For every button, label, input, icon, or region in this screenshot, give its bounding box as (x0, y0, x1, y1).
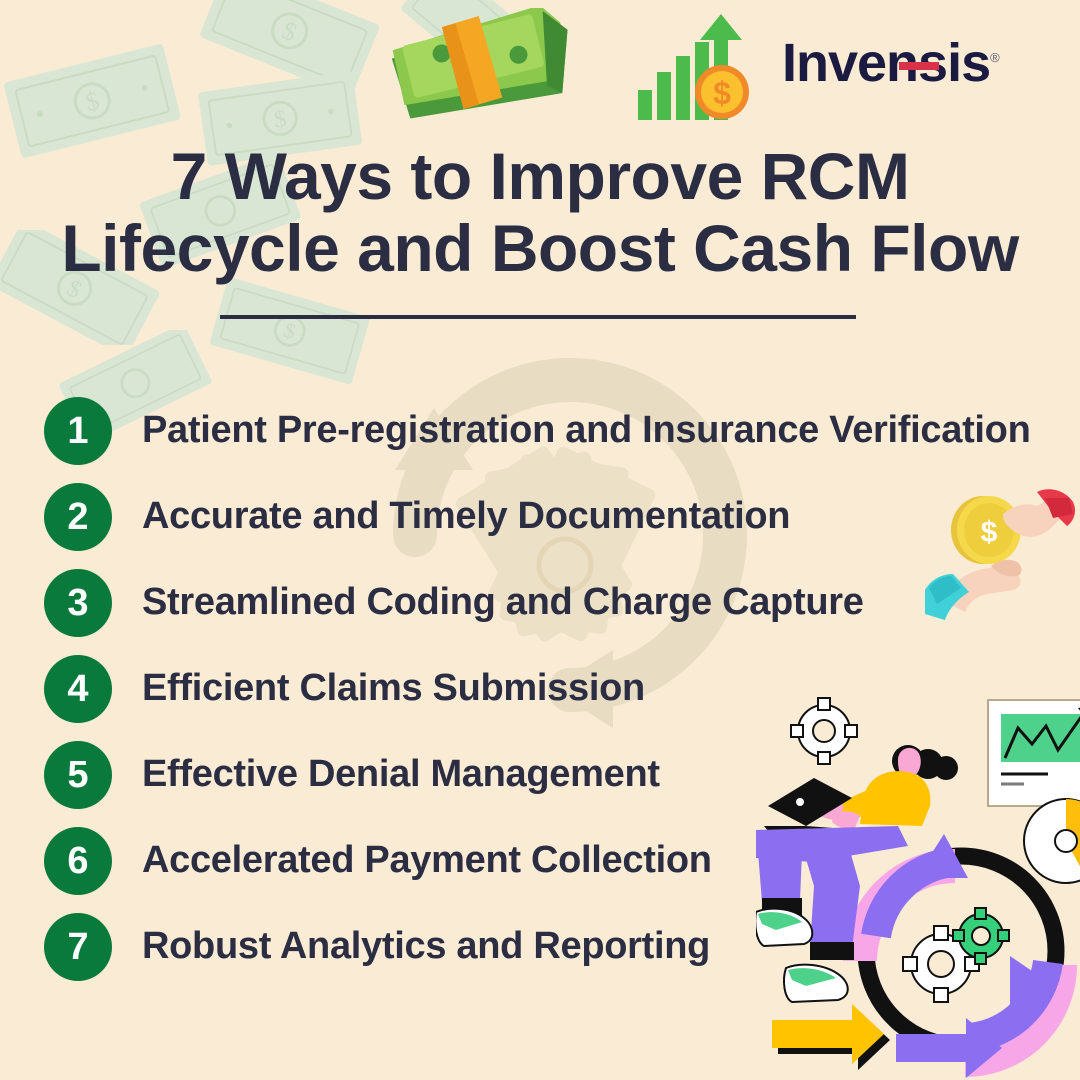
list-item[interactable]: 3 Streamlined Coding and Charge Capture (44, 560, 1074, 646)
title-line-2: Lifecycle and Boost Cash Flow (0, 212, 1080, 284)
list-item-label: Streamlined Coding and Charge Capture (142, 583, 864, 623)
list-item[interactable]: 2 Accurate and Timely Documentation (44, 474, 1074, 560)
list-item-label: Efficient Claims Submission (142, 669, 645, 709)
person-laptop-rcm-cycle-illustration (756, 686, 1080, 1080)
list-item[interactable]: 1 Patient Pre-registration and Insurance… (44, 388, 1074, 474)
list-item-number: 5 (44, 741, 112, 809)
dollar-bill-watermark: $ (200, 275, 380, 385)
report-card-icon (988, 700, 1080, 806)
page-title: 7 Ways to Improve RCM Lifecycle and Boos… (0, 140, 1080, 284)
pie-chart-icon (1024, 799, 1080, 883)
list-item-number: 4 (44, 655, 112, 723)
list-item-label: Patient Pre-registration and Insurance V… (142, 411, 1031, 451)
cash-stack-icon (382, 8, 582, 128)
list-item-number: 6 (44, 827, 112, 895)
title-line-1: 7 Ways to Improve RCM (0, 140, 1080, 212)
svg-text:$: $ (272, 105, 288, 133)
list-item-label: Accelerated Payment Collection (142, 841, 712, 881)
list-item-number: 3 (44, 569, 112, 637)
infographic-poster: $ $ $ (0, 0, 1080, 1080)
dollar-bill-watermark: $ (190, 0, 390, 90)
list-item-label: Accurate and Timely Documentation (142, 497, 790, 537)
svg-text:$: $ (278, 16, 301, 48)
gear-icon (791, 698, 857, 764)
logo-text: Invensis (782, 33, 990, 93)
list-item-label: Robust Analytics and Reporting (142, 927, 710, 967)
yellow-arrow-icon (772, 1004, 890, 1070)
invensis-logo[interactable]: Invensis® (782, 36, 1062, 98)
list-item-number: 1 (44, 397, 112, 465)
logo-accent-bar (899, 62, 939, 70)
growth-bar-chart-coin-icon: $ (634, 14, 754, 122)
hands-exchanging-coin-icon: $ (925, 462, 1080, 642)
svg-text:$: $ (713, 75, 731, 111)
logo-wordmark: Invensis® (782, 36, 999, 90)
list-item-number: 2 (44, 483, 112, 551)
title-divider (220, 315, 856, 319)
svg-text:$: $ (281, 318, 298, 344)
svg-text:$: $ (981, 516, 998, 549)
list-item-label: Effective Denial Management (142, 755, 660, 795)
list-item-number: 7 (44, 913, 112, 981)
registered-trademark-icon: ® (990, 50, 999, 65)
svg-text:$: $ (83, 86, 103, 117)
